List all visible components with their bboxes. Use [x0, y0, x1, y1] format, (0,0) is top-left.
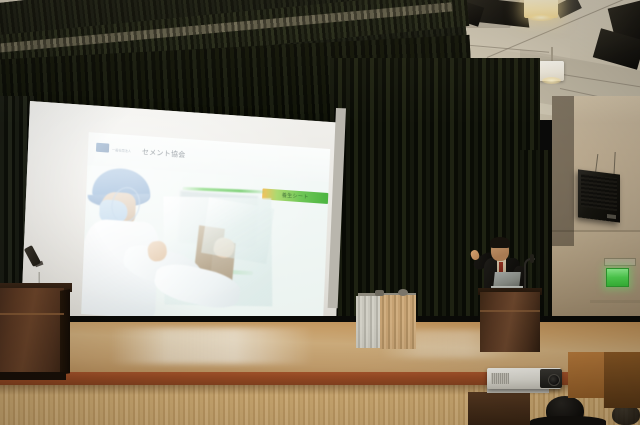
presenter-hair [490, 237, 510, 248]
hall-wall-warm [604, 352, 640, 408]
lectern-trim [480, 310, 540, 312]
table-item [375, 290, 384, 296]
lamp-glow [528, 14, 554, 21]
slide-badge: 養生シート [262, 188, 328, 204]
lamp-glow [542, 77, 561, 84]
speaker-badge [607, 214, 616, 219]
lectern-side [60, 289, 70, 375]
stage-light-fixture [554, 0, 582, 19]
exit-sign-housing [604, 258, 636, 266]
projector-vent [491, 373, 509, 384]
floor-highlight [110, 328, 370, 364]
wall-upper-right [574, 96, 640, 124]
pendant-lamp [539, 61, 564, 81]
projected-slide: 一般社団法人 セメント協会 養生シート [81, 132, 330, 331]
cement-association-logo-icon [96, 143, 109, 153]
lectern-front [0, 288, 64, 380]
projector-stand [468, 392, 530, 425]
audience-shoulder [530, 416, 606, 425]
lectern-front [480, 292, 540, 352]
pendant-lamp [524, 0, 558, 18]
wall-trim [590, 300, 640, 303]
podium-microphone-gooseneck [524, 258, 535, 288]
slide-plastic-sheet [201, 197, 274, 264]
projector-lens-icon [548, 374, 560, 386]
emergency-exit-sign [606, 268, 629, 287]
lectern-trim [0, 313, 64, 315]
auditorium-photo: 一般社団法人 セメント協会 養生シート [0, 0, 640, 425]
draped-side-table [380, 295, 416, 349]
wall-shadow [552, 96, 574, 246]
slide-badge-label: 養生シート [282, 192, 309, 201]
lectern-base [0, 372, 66, 380]
speaker-grille [581, 174, 616, 212]
lamp-rod [551, 47, 553, 61]
podium-microphone-head [530, 254, 534, 263]
loudspeaker-right-wall [578, 169, 620, 222]
table-item [398, 289, 408, 296]
